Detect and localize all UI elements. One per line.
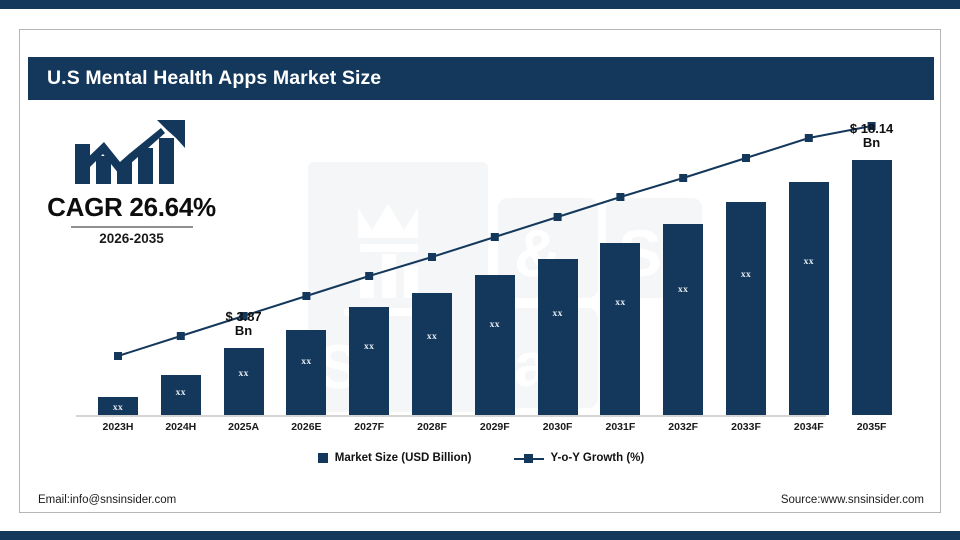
bar-value-placeholder: xx (286, 357, 326, 367)
line-marker-2023H[interactable] (114, 352, 122, 360)
line-marker-2029F[interactable] (491, 233, 499, 241)
line-marker-2024H[interactable] (177, 332, 185, 340)
bottom-accent-bar (0, 531, 960, 540)
bar-2032F[interactable]: xx (663, 224, 703, 415)
category-label-2028F: 2028F (401, 421, 463, 433)
category-label-2034F: 2034F (778, 421, 840, 433)
category-label-2035F: 2035F (841, 421, 903, 433)
bar-2026E[interactable]: xx (286, 330, 326, 415)
bar-value-placeholder: xx (663, 285, 703, 295)
line-marker-2034F[interactable] (805, 134, 813, 142)
category-label-2029F: 2029F (464, 421, 526, 433)
category-label-2027F: 2027F (338, 421, 400, 433)
line-marker-2026E[interactable] (302, 292, 310, 300)
legend-label: Market Size (USD Billion) (335, 452, 472, 464)
bar-value-placeholder: xx (349, 342, 389, 352)
bar-value-placeholder: xx (538, 309, 578, 319)
category-label-2025A: 2025A (213, 421, 275, 433)
bar-2035F[interactable] (852, 160, 892, 415)
bar-2027F[interactable]: xx (349, 307, 389, 415)
infographic-card: U.S Mental Health Apps Market Size S & S (19, 29, 941, 513)
category-label-2026E: 2026E (275, 421, 337, 433)
top-accent-bar (0, 0, 960, 9)
bar-2033F[interactable]: xx (726, 202, 766, 415)
footer-email[interactable]: Email:info@snsinsider.com (38, 494, 176, 506)
category-label-2023H: 2023H (87, 421, 149, 433)
line-marker-2031F[interactable] (616, 193, 624, 201)
line-marker-2032F[interactable] (679, 174, 687, 182)
line-marker-2027F[interactable] (365, 272, 373, 280)
bar-value-placeholder: xx (475, 320, 515, 330)
line-square-marker-icon (514, 453, 544, 463)
legend-item-yoy-growth[interactable]: Y-o-Y Growth (%) (514, 452, 645, 464)
bar-2029F[interactable]: xx (475, 275, 515, 415)
category-label-2031F: 2031F (589, 421, 651, 433)
chart-legend: Market Size (USD Billion) Y-o-Y Growth (… (20, 452, 942, 464)
line-marker-2028F[interactable] (428, 253, 436, 261)
line-marker-2030F[interactable] (554, 213, 562, 221)
value-annotation-2035F: $ 18.14Bn (827, 122, 917, 150)
legend-label: Y-o-Y Growth (%) (551, 452, 645, 464)
bar-value-placeholder: xx (412, 332, 452, 342)
square-marker-icon (318, 453, 328, 463)
bar-2030F[interactable]: xx (538, 259, 578, 415)
plot-canvas: xxxxxxxxxxxxxxxxxxxxxxxx 2023H2024H2025A… (20, 30, 942, 430)
bar-2034F[interactable]: xx (789, 182, 829, 415)
footer: Email:info@snsinsider.com Source:www.sns… (20, 485, 942, 514)
category-label-2032F: 2032F (652, 421, 714, 433)
legend-item-market-size[interactable]: Market Size (USD Billion) (318, 452, 472, 464)
category-label-2024H: 2024H (150, 421, 212, 433)
bar-value-placeholder: xx (98, 403, 138, 413)
bar-2025A[interactable]: xx (224, 348, 264, 415)
footer-source[interactable]: Source:www.snsinsider.com (781, 494, 924, 506)
bar-value-placeholder: xx (161, 388, 201, 398)
chart-area: S & S a CAGR 26.64% 2026- (20, 30, 942, 514)
bar-2024H[interactable]: xx (161, 375, 201, 415)
bar-2023H[interactable]: xx (98, 397, 138, 415)
bar-value-placeholder: xx (224, 369, 264, 379)
line-marker-2033F[interactable] (742, 154, 750, 162)
bar-2031F[interactable]: xx (600, 243, 640, 415)
bar-value-placeholder: xx (726, 270, 766, 280)
bar-value-placeholder: xx (600, 298, 640, 308)
bar-value-placeholder: xx (789, 257, 829, 267)
category-label-2033F: 2033F (715, 421, 777, 433)
bar-2028F[interactable]: xx (412, 293, 452, 415)
category-label-2030F: 2030F (527, 421, 589, 433)
value-annotation-2025A: $ 3.87Bn (199, 310, 289, 338)
